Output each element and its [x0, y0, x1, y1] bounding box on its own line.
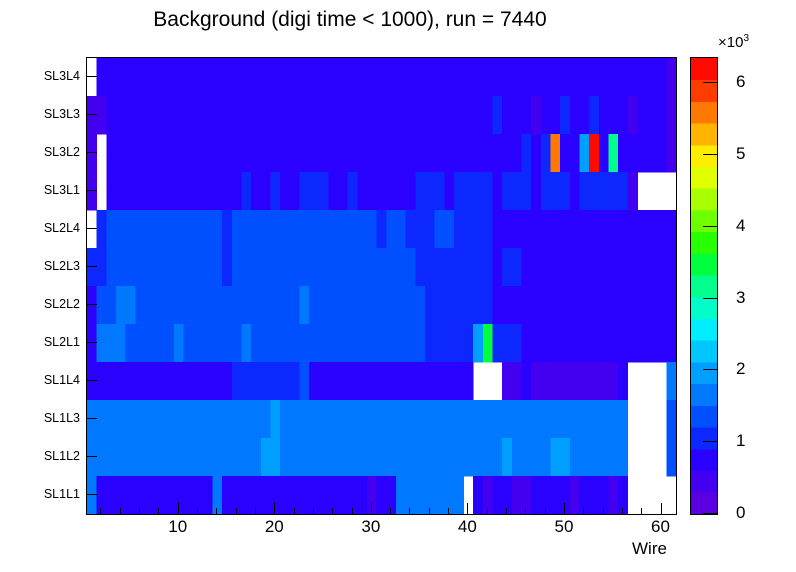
y-tick-mark: [87, 152, 97, 153]
colorbar-tick-label-6: 6: [736, 72, 745, 92]
x-tick-minor: [294, 508, 295, 514]
root-canvas: Background (digi time < 1000), run = 744…: [0, 0, 796, 572]
colorbar-tick-label-4: 4: [736, 216, 745, 236]
y-tick-label-sl3l4: SL3L4: [44, 69, 80, 83]
x-tick-minor: [429, 508, 430, 514]
heatmap-cells: [87, 58, 676, 514]
x-tick-minor: [255, 508, 256, 514]
x-tick-minor: [506, 508, 507, 514]
x-tick-minor: [197, 508, 198, 514]
y-tick-label-sl2l3: SL2L3: [44, 259, 80, 273]
y-tick-mark: [87, 418, 97, 419]
x-tick-major: [371, 503, 372, 514]
x-tick-minor: [448, 508, 449, 514]
x-tick-major: [564, 503, 565, 514]
x-tick-minor: [352, 508, 353, 514]
y-tick-mark: [87, 114, 97, 115]
y-tick-label-sl2l4: SL2L4: [44, 221, 80, 235]
colorbar-exponent-label: ×103: [718, 33, 749, 51]
y-tick-label-sl2l1: SL2L1: [44, 335, 80, 349]
y-tick-label-sl1l4: SL1L4: [44, 373, 80, 387]
colorbar-tick-label-3: 3: [736, 288, 745, 308]
x-tick-label-30: 30: [361, 517, 380, 537]
colorbar-tick-label-1: 1: [736, 431, 745, 451]
x-tick-label-40: 40: [458, 517, 477, 537]
heatmap-plot-area[interactable]: [86, 57, 677, 515]
y-tick-label-sl3l2: SL3L2: [44, 145, 80, 159]
x-tick-minor: [487, 508, 488, 514]
y-tick-mark: [87, 494, 97, 495]
x-tick-major: [467, 503, 468, 514]
x-tick-major: [178, 503, 179, 514]
y-tick-label-sl3l1: SL3L1: [44, 183, 80, 197]
colorbar-exponent-prefix: ×10: [718, 34, 743, 51]
colorbar-tick-mark: [703, 441, 717, 442]
page-title: Background (digi time < 1000), run = 744…: [0, 8, 700, 32]
x-tick-minor: [641, 508, 642, 514]
x-tick-minor: [236, 508, 237, 514]
x-tick-minor: [603, 508, 604, 514]
x-tick-minor: [216, 508, 217, 514]
x-tick-minor: [390, 508, 391, 514]
x-tick-minor: [139, 508, 140, 514]
x-tick-minor: [158, 508, 159, 514]
colorbar-tick-label-2: 2: [736, 359, 745, 379]
x-tick-minor: [622, 508, 623, 514]
colorbar-tick-mark: [703, 226, 717, 227]
colorbar-tick-mark: [703, 513, 717, 514]
colorbar[interactable]: [690, 57, 718, 515]
y-tick-mark: [87, 304, 97, 305]
x-tick-minor: [100, 508, 101, 514]
x-tick-label-20: 20: [265, 517, 284, 537]
x-tick-minor: [583, 508, 584, 514]
y-tick-label-sl1l1: SL1L1: [44, 487, 80, 501]
x-tick-label-60: 60: [651, 517, 670, 537]
y-tick-mark: [87, 456, 97, 457]
y-tick-mark: [87, 380, 97, 381]
colorbar-tick-mark: [703, 154, 717, 155]
colorbar-tick-label-5: 5: [736, 144, 745, 164]
y-tick-mark: [87, 342, 97, 343]
colorbar-tick-mark: [703, 298, 717, 299]
y-tick-mark: [87, 228, 97, 229]
colorbar-exponent-power: 3: [743, 33, 749, 44]
x-tick-minor: [332, 508, 333, 514]
y-tick-mark: [87, 266, 97, 267]
colorbar-gradient: [691, 58, 717, 514]
colorbar-tick-mark: [703, 369, 717, 370]
x-tick-label-50: 50: [554, 517, 573, 537]
x-tick-major: [274, 503, 275, 514]
y-tick-mark: [87, 76, 97, 77]
y-tick-mark: [87, 190, 97, 191]
y-axis: SL3L4SL3L3SL3L2SL3L1SL2L4SL2L3SL2L2SL2L1…: [0, 0, 80, 572]
colorbar-tick-mark: [703, 82, 717, 83]
y-tick-label-sl1l3: SL1L3: [44, 411, 80, 425]
x-tick-minor: [409, 508, 410, 514]
x-tick-minor: [120, 508, 121, 514]
y-tick-label-sl1l2: SL1L2: [44, 449, 80, 463]
x-tick-minor: [545, 508, 546, 514]
x-axis-title: Wire: [632, 539, 667, 559]
y-tick-label-sl3l3: SL3L3: [44, 107, 80, 121]
x-tick-major: [661, 503, 662, 514]
x-tick-minor: [525, 508, 526, 514]
y-tick-label-sl2l2: SL2L2: [44, 297, 80, 311]
x-tick-label-10: 10: [168, 517, 187, 537]
x-tick-minor: [313, 508, 314, 514]
colorbar-tick-label-0: 0: [736, 503, 745, 523]
